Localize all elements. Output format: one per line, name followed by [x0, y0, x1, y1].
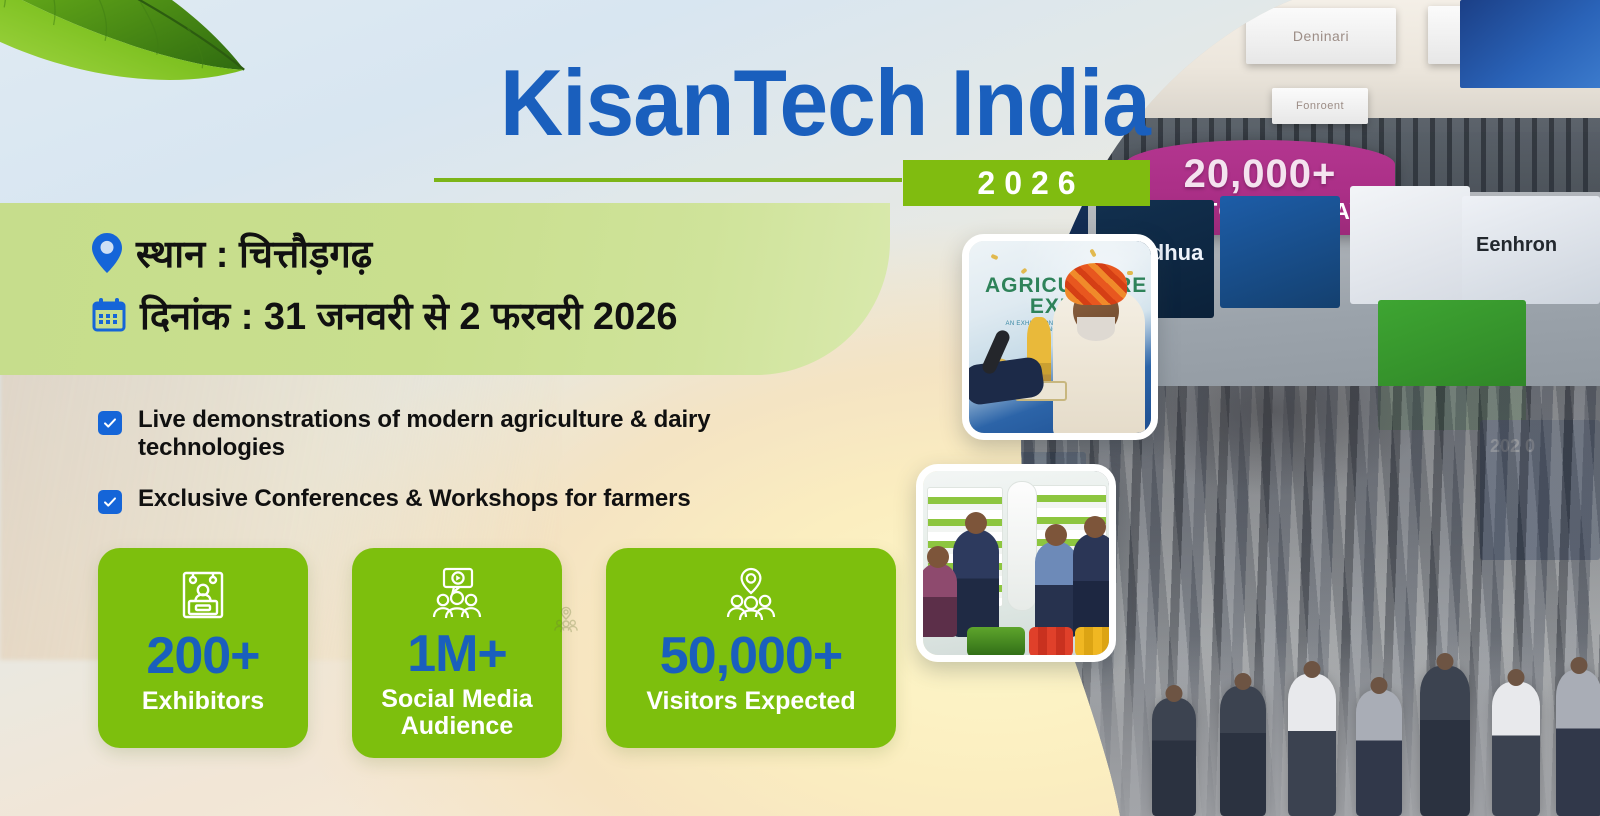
highlight-text: Exclusive Conferences & Workshops for fa…	[138, 485, 691, 514]
location-pin-icon	[92, 233, 122, 273]
hydroponic-tower	[1007, 481, 1037, 611]
visitor-figure	[1152, 698, 1196, 816]
stat-label: Exhibitors	[142, 688, 264, 715]
highlights-list: Live demonstrations of modern agricultur…	[98, 406, 798, 538]
venue-row: स्थान : चित्तौड़गढ़	[92, 227, 890, 279]
booth-panel: Eenhron	[1462, 196, 1600, 304]
event-year: 2026	[968, 165, 1084, 202]
visitors-today-count: 20,000+	[1184, 156, 1337, 192]
stat-label: Social Media Audience	[381, 686, 532, 740]
list-item: Live demonstrations of modern agricultur…	[98, 406, 798, 461]
visitor-figure	[1288, 674, 1336, 816]
hanging-sign: Fonroent	[1272, 88, 1368, 124]
farmer-beard	[1077, 317, 1115, 341]
tomato-tray	[1029, 627, 1073, 657]
visitor-figure	[1556, 670, 1600, 816]
checkbox-checked-icon	[98, 411, 122, 435]
visitor-figure	[1220, 686, 1266, 816]
drone-display-screen	[1460, 0, 1600, 88]
title-underline	[434, 178, 902, 182]
calendar-icon	[92, 297, 126, 333]
confetti	[1127, 271, 1133, 275]
event-promo-banner: Deninari Fonroent Scosh 20,000+ VISITORS…	[0, 0, 1600, 816]
farmer-turban	[1065, 263, 1127, 305]
booth-panel	[1220, 196, 1340, 308]
social-media-audience-icon	[428, 566, 486, 622]
hydroponics-booth-photo	[916, 464, 1116, 662]
date-row: दिनांक : 31 जनवरी से 2 फरवरी 2026	[92, 289, 890, 341]
event-title-block: KisanTech India 2026	[420, 56, 1150, 208]
list-item: Exclusive Conferences & Workshops for fa…	[98, 485, 798, 514]
yellow-tomato-tray	[1075, 627, 1116, 657]
stat-number: 200+	[146, 630, 259, 682]
stat-card-social-media: 1M+ Social Media Audience	[352, 548, 562, 758]
visitor-figure	[1420, 666, 1470, 816]
fresh-greens-tray	[967, 627, 1025, 657]
exhibition-booth-icon	[177, 566, 229, 624]
visitors-location-icon	[722, 566, 780, 624]
visitors-location-icon-watermark	[552, 606, 580, 634]
hanging-sign: Deninari	[1246, 8, 1396, 64]
visitor-figure	[1356, 690, 1402, 816]
leaf-icon-top-left	[0, 0, 306, 204]
venue-text: स्थान : चित्तौड़गढ़	[136, 227, 372, 279]
exhibitor-figure	[953, 529, 999, 637]
stat-number: 1M+	[407, 628, 507, 680]
checkbox-checked-icon	[98, 490, 122, 514]
booth-panel	[1350, 186, 1470, 304]
award-ceremony-photo: AGRICULTURE EXPO AN EXHIBITION FOR AGRIC…	[962, 234, 1158, 440]
stat-label: Visitors Expected	[646, 688, 855, 715]
visitor-figure	[919, 563, 957, 637]
stat-card-exhibitors: 200+ Exhibitors	[98, 548, 308, 748]
visitor-figure	[1035, 541, 1077, 637]
stat-card-visitors: 50,000+ Visitors Expected	[606, 548, 896, 748]
date-text: दिनांक : 31 जनवरी से 2 फरवरी 2026	[140, 289, 677, 341]
visitor-figure	[1073, 533, 1116, 637]
event-title: KisanTech India	[471, 56, 1150, 150]
venue-date-band: स्थान : चित्तौड़गढ़ दिनांक : 31 जनवरी से…	[0, 203, 890, 375]
booth-sign-label: Eenhron	[1476, 234, 1557, 257]
stats-cards: 200+ Exhibitors 1M+ Social Media Audienc…	[98, 548, 896, 758]
highlight-text: Live demonstrations of modern agricultur…	[138, 406, 798, 461]
stat-number: 50,000+	[660, 630, 842, 682]
title-rule-row: 2026	[420, 160, 1150, 208]
visitor-figure	[1492, 682, 1540, 816]
event-year-block: 2026	[903, 160, 1150, 206]
